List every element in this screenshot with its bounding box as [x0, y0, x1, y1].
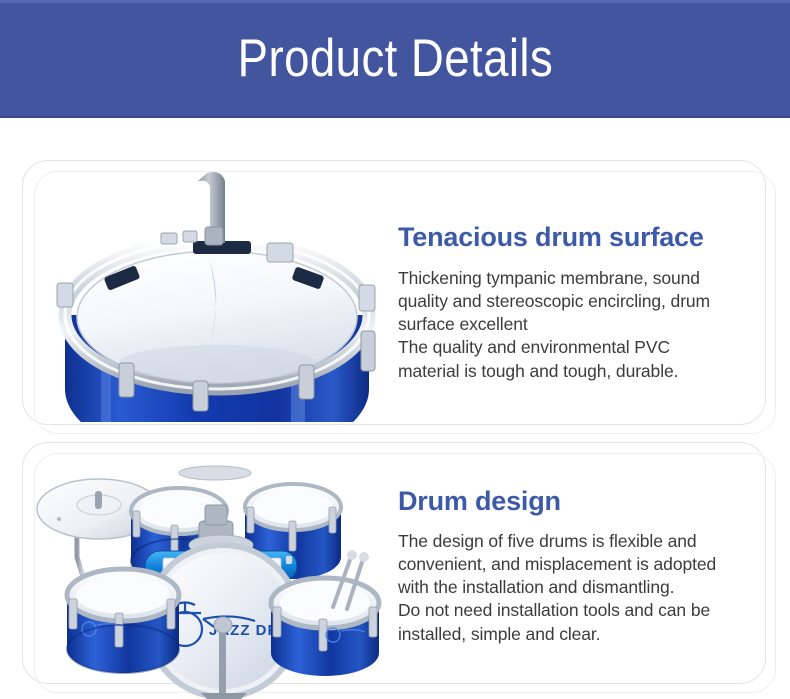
feature-image-drum-design: JAZZ DRUM	[23, 443, 395, 683]
feature-title: Drum design	[398, 487, 765, 517]
floor-tom-right	[271, 578, 379, 676]
page-title: Product Details	[237, 32, 553, 85]
feature-copy-drum-design: Drum design The design of five drums is …	[395, 443, 765, 646]
feature-card-tenacious-drum-surface: Tenacious drum surface Thickening tympan…	[22, 160, 766, 425]
feature-copy-tenacious-drum-surface: Tenacious drum surface Thickening tympan…	[395, 161, 765, 383]
page-header-banner: Product Details	[0, 0, 790, 118]
feature-title: Tenacious drum surface	[398, 223, 765, 253]
feature-description: Thickening tympanic membrane, sound qual…	[398, 267, 765, 383]
card-content: Tenacious drum surface Thickening tympan…	[23, 161, 765, 424]
feature-image-tenacious-drum-surface	[23, 161, 395, 424]
blue-snare-drum-closeup-icon	[41, 167, 393, 422]
feature-card-drum-design: JAZZ DRUM	[22, 442, 766, 684]
card-content: JAZZ DRUM	[23, 443, 765, 683]
feature-description: The design of five drums is flexible and…	[398, 530, 765, 646]
blue-five-piece-jazz-drum-kit-icon: JAZZ DRUM	[33, 453, 393, 699]
floor-tom-left	[67, 569, 179, 673]
